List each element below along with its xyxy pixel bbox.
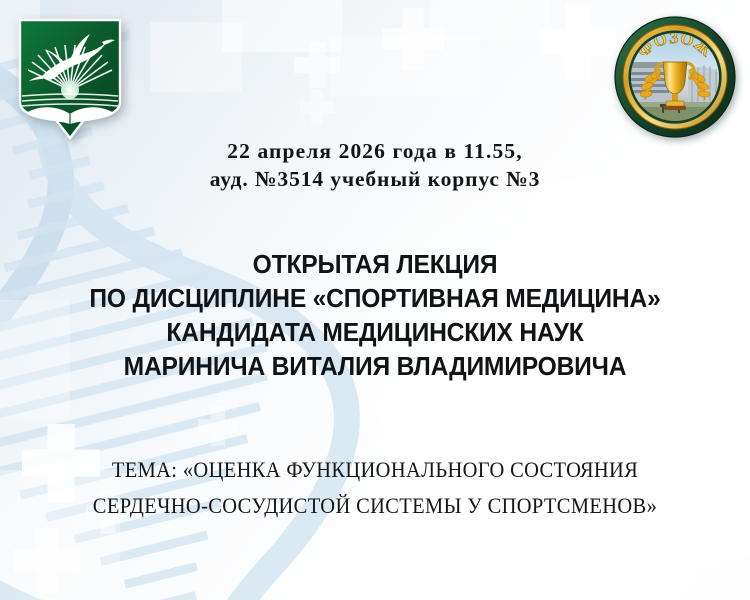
medical-cross-icon [540,4,616,80]
lecture-title-block: ОТКРЫТАЯ ЛЕКЦИЯ ПО ДИСЦИПЛИНЕ «СПОРТИВНА… [13,248,737,385]
bg-block [330,36,480,96]
title-line-2: ПО ДИСЦИПЛИНЕ «СПОРТИВНАЯ МЕДИЦИНА» [13,282,737,316]
medical-cross-icon [382,8,444,70]
medical-cross-icon [294,42,340,88]
lecture-announcement-slide: ФОЗОЖ 22 апреля 2026 года в 11.55, ауд. … [0,0,750,600]
date-line-2: ауд. №3514 учебный корпус №3 [0,165,750,193]
theme-line-2: СЕРДЕЧНО-СОСУДИСТОЙ СИСТЕМЫ У СПОРТСМЕНО… [26,488,724,524]
fozozh-emblem: ФОЗОЖ [614,16,736,138]
title-line-4: МАРИНИЧА ВИТАЛИЯ ВЛАДИМИРОВИЧА [13,350,737,384]
date-venue-block: 22 апреля 2026 года в 11.55, ауд. №3514 … [0,137,750,194]
theme-line-1: ТЕМА: «ОЦЕНКА ФУНКЦИОНАЛЬНОГО СОСТОЯНИЯ [26,452,724,488]
bg-block [150,22,242,92]
medical-cross-icon [14,528,80,594]
title-line-3: КАНДИДАТА МЕДИЦИНСКИХ НАУК [13,316,737,350]
medical-cross-icon [468,392,502,426]
bg-block [430,0,550,40]
university-coat-of-arms [18,18,122,140]
title-line-1: ОТКРЫТАЯ ЛЕКЦИЯ [13,248,737,282]
bg-block [222,0,342,52]
medical-cross-icon [198,406,238,446]
medical-cross-icon [300,90,334,124]
lecture-theme-block: ТЕМА: «ОЦЕНКА ФУНКЦИОНАЛЬНОГО СОСТОЯНИЯ … [26,452,724,523]
date-line-1: 22 апреля 2026 года в 11.55, [0,137,750,165]
